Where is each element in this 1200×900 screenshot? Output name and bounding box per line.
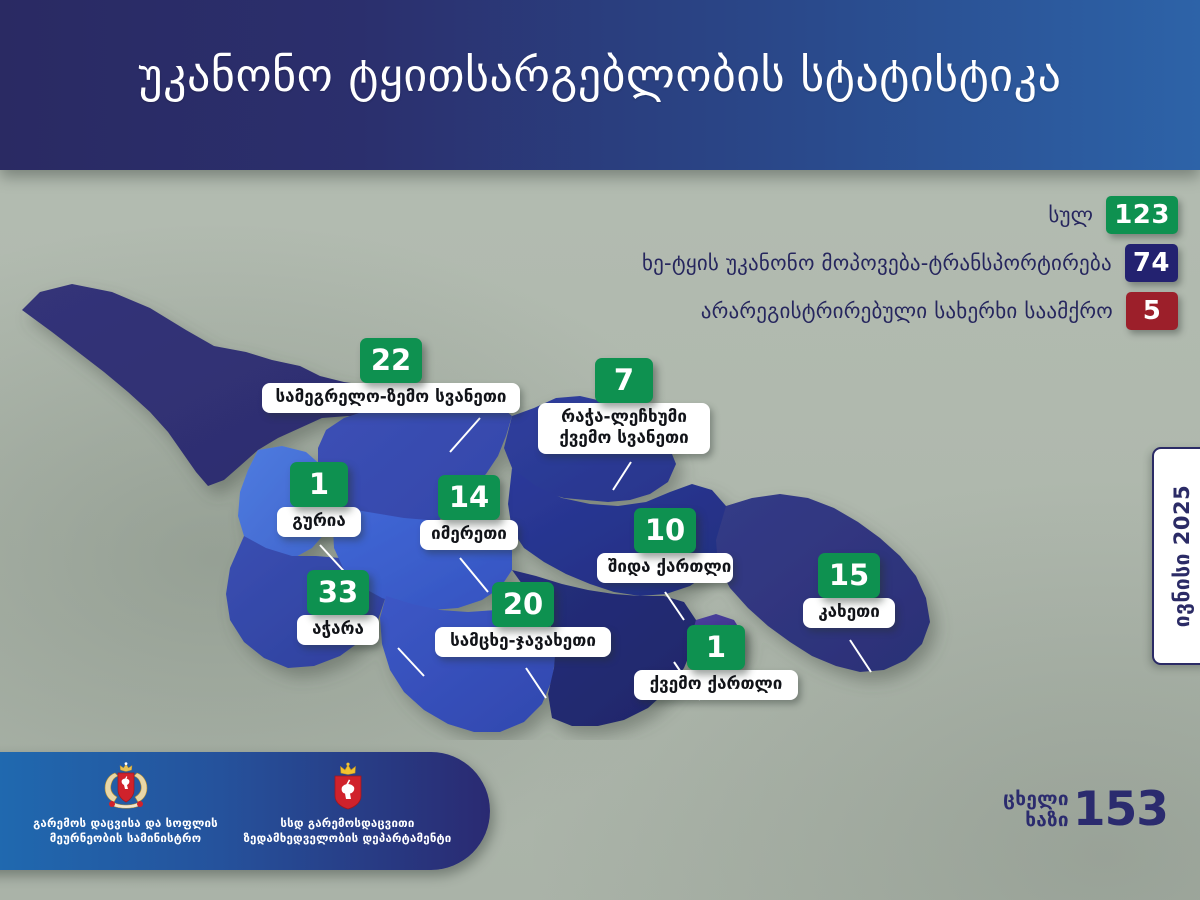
legend-value-badge: 123 [1106,196,1178,234]
marker-value: 15 [818,553,880,598]
marker-label: სამეგრელო-ზემო სვანეთი [262,383,520,413]
legend-label: არარეგისტრირებული სახერხი საამქრო [701,299,1113,323]
marker-label: გურია [277,507,361,537]
map-marker-guria[interactable]: 1 გურია [277,462,361,537]
map-marker-imereti[interactable]: 14 იმერეთი [420,475,518,550]
marker-label: იმერეთი [420,520,518,550]
org-ministry-name: გარემოს დაცვისა და სოფლის მეურნეობის სამ… [18,816,233,846]
org-ministry: გარემოს დაცვისა და სოფლის მეურნეობის სამ… [18,762,233,846]
st-george-shield-icon [326,762,370,812]
marker-label: სამცხე-ჯავახეთი [435,627,611,657]
legend-row-total[interactable]: სულ 123 [642,196,1178,234]
org-department-name: სსდ გარემოსდაცვითი ზედამხედველობის დეპარ… [240,816,455,846]
marker-value: 1 [290,462,348,507]
legend-label: სულ [1048,203,1093,227]
georgia-coat-of-arms-icon [97,762,155,812]
marker-value: 33 [307,570,369,615]
hotline-label: ცხელი ხაზი [1003,789,1069,831]
infographic-canvas: უკანონო ტყითსარგებლობის სტატისტიკა [0,0,1200,900]
marker-value: 14 [438,475,500,520]
map-marker-samtskhe-javakheti[interactable]: 20 სამცხე-ჯავახეთი [435,582,611,657]
marker-value: 7 [595,358,653,403]
marker-value: 20 [492,582,554,627]
org-department: სსდ გარემოსდაცვითი ზედამხედველობის დეპარ… [240,762,455,846]
marker-value: 22 [360,338,422,383]
date-tab[interactable]: ივნისი 2025 [1152,447,1200,665]
map-marker-racha-lechkhumi[interactable]: 7 რაჭა-ლეჩხუმი ქვემო სვანეთი [538,358,710,454]
map-marker-shida-kartli[interactable]: 10 შიდა ქართლი [597,508,733,583]
map-marker-kvemo-kartli[interactable]: 1 ქვემო ქართლი [634,625,798,700]
map-marker-samegrelo-zemo-svaneti[interactable]: 22 სამეგრელო-ზემო სვანეთი [262,338,520,413]
marker-value: 1 [687,625,745,670]
legend-label: ხე-ტყის უკანონო მოპოვება-ტრანსპორტირება [642,251,1112,275]
map-marker-kakheti[interactable]: 15 კახეთი [803,553,895,628]
legend: სულ 123 ხე-ტყის უკანონო მოპოვება-ტრანსპო… [642,196,1178,340]
marker-label: ქვემო ქართლი [634,670,798,700]
map-marker-adjara[interactable]: 33 აჭარა [297,570,379,645]
legend-value-badge: 74 [1125,244,1178,282]
legend-row-illegal-logging-transport[interactable]: ხე-ტყის უკანონო მოპოვება-ტრანსპორტირება … [642,244,1178,282]
legend-row-unregistered-sawmill[interactable]: არარეგისტრირებული სახერხი საამქრო 5 [642,292,1178,330]
hotline: ცხელი ხაზი 153 [1003,786,1168,833]
marker-label: რაჭა-ლეჩხუმი ქვემო სვანეთი [538,403,710,454]
date-tab-label: ივნისი 2025 [1170,485,1194,627]
marker-label: შიდა ქართლი [597,553,733,583]
header-banner: უკანონო ტყითსარგებლობის სტატისტიკა [0,0,1200,170]
marker-label: აჭარა [297,615,379,645]
page-title: უკანონო ტყითსარგებლობის სტატისტიკა [0,47,1200,103]
marker-label: კახეთი [803,598,895,628]
legend-value-badge: 5 [1126,292,1178,330]
marker-value: 10 [634,508,696,553]
hotline-number: 153 [1073,786,1168,833]
